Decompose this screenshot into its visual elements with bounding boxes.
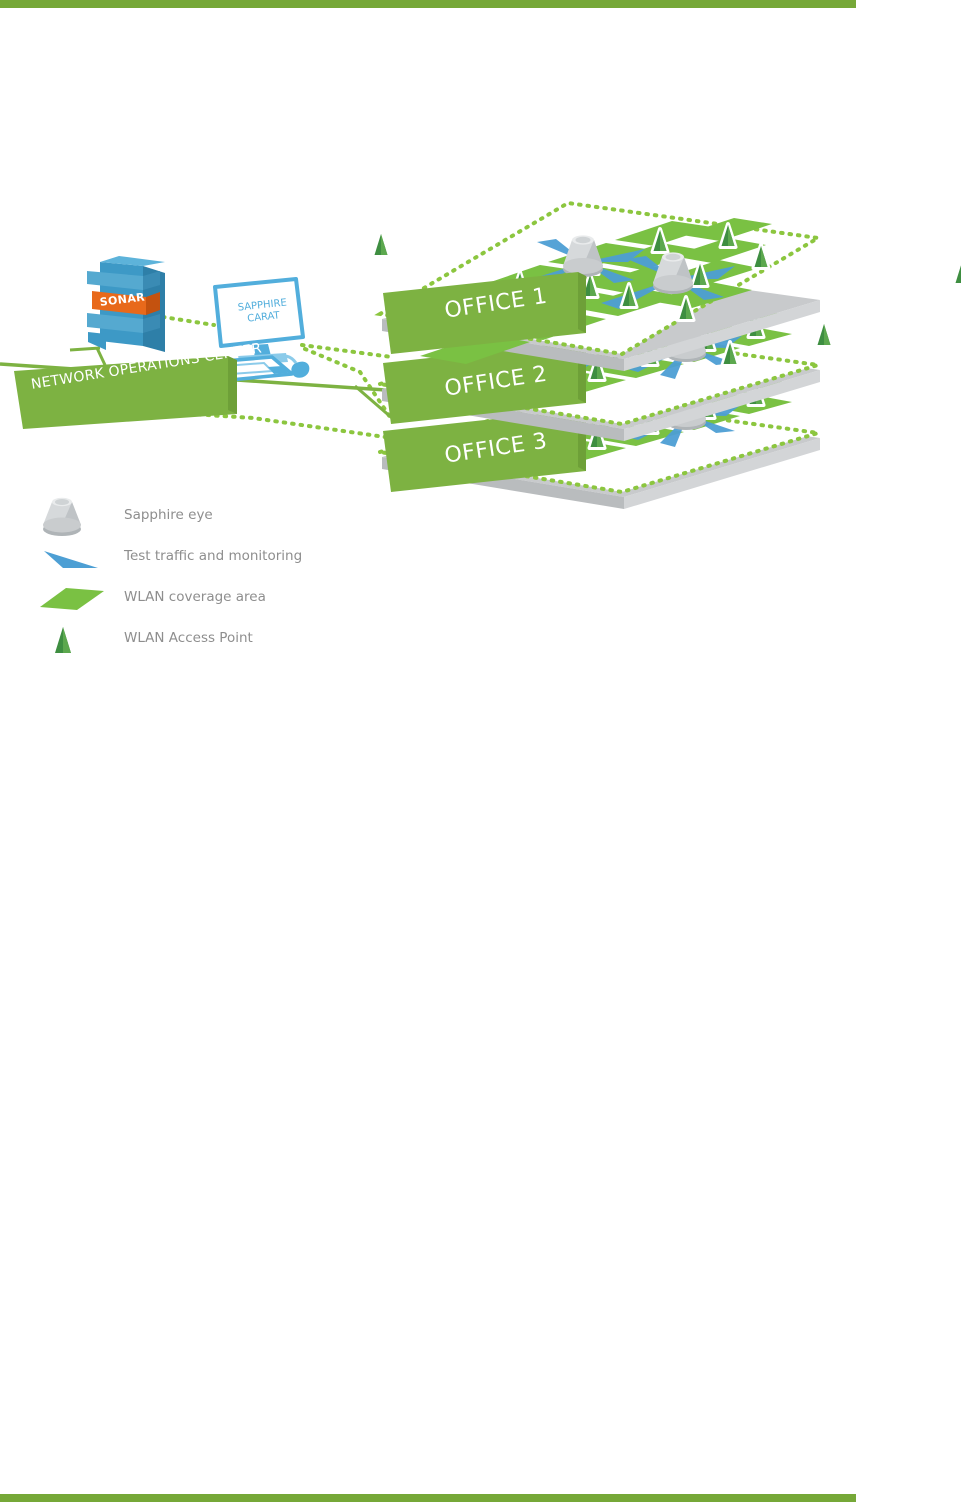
page-bottom-rule (0, 1494, 856, 1502)
link-workstation-to-floors (302, 345, 392, 420)
diagram-legend: Sapphire eye Test traffic and monitoring… (36, 496, 436, 660)
legend-item-sapphire-eye: Sapphire eye (36, 496, 436, 537)
legend-label-wlan-coverage: WLAN coverage area (124, 589, 266, 605)
legend-item-wlan-coverage: WLAN coverage area (36, 578, 436, 619)
wlan-access-point-icon (36, 619, 112, 660)
legend-item-wlan-access-point: WLAN Access Point (36, 619, 436, 660)
wlan-coverage-icon (36, 578, 112, 619)
test-traffic-icon (36, 537, 112, 578)
legend-item-test-traffic: Test traffic and monitoring (36, 537, 436, 578)
legend-label-test-traffic: Test traffic and monitoring (124, 548, 302, 564)
legend-label-sapphire-eye: Sapphire eye (124, 507, 213, 523)
sapphire-eye-icon (36, 496, 112, 537)
legend-label-wlan-access-point: WLAN Access Point (124, 630, 253, 646)
link-sonar-to-workstation (163, 317, 214, 325)
sonar-server-rack (87, 256, 165, 352)
office-floor-1 (374, 203, 961, 371)
